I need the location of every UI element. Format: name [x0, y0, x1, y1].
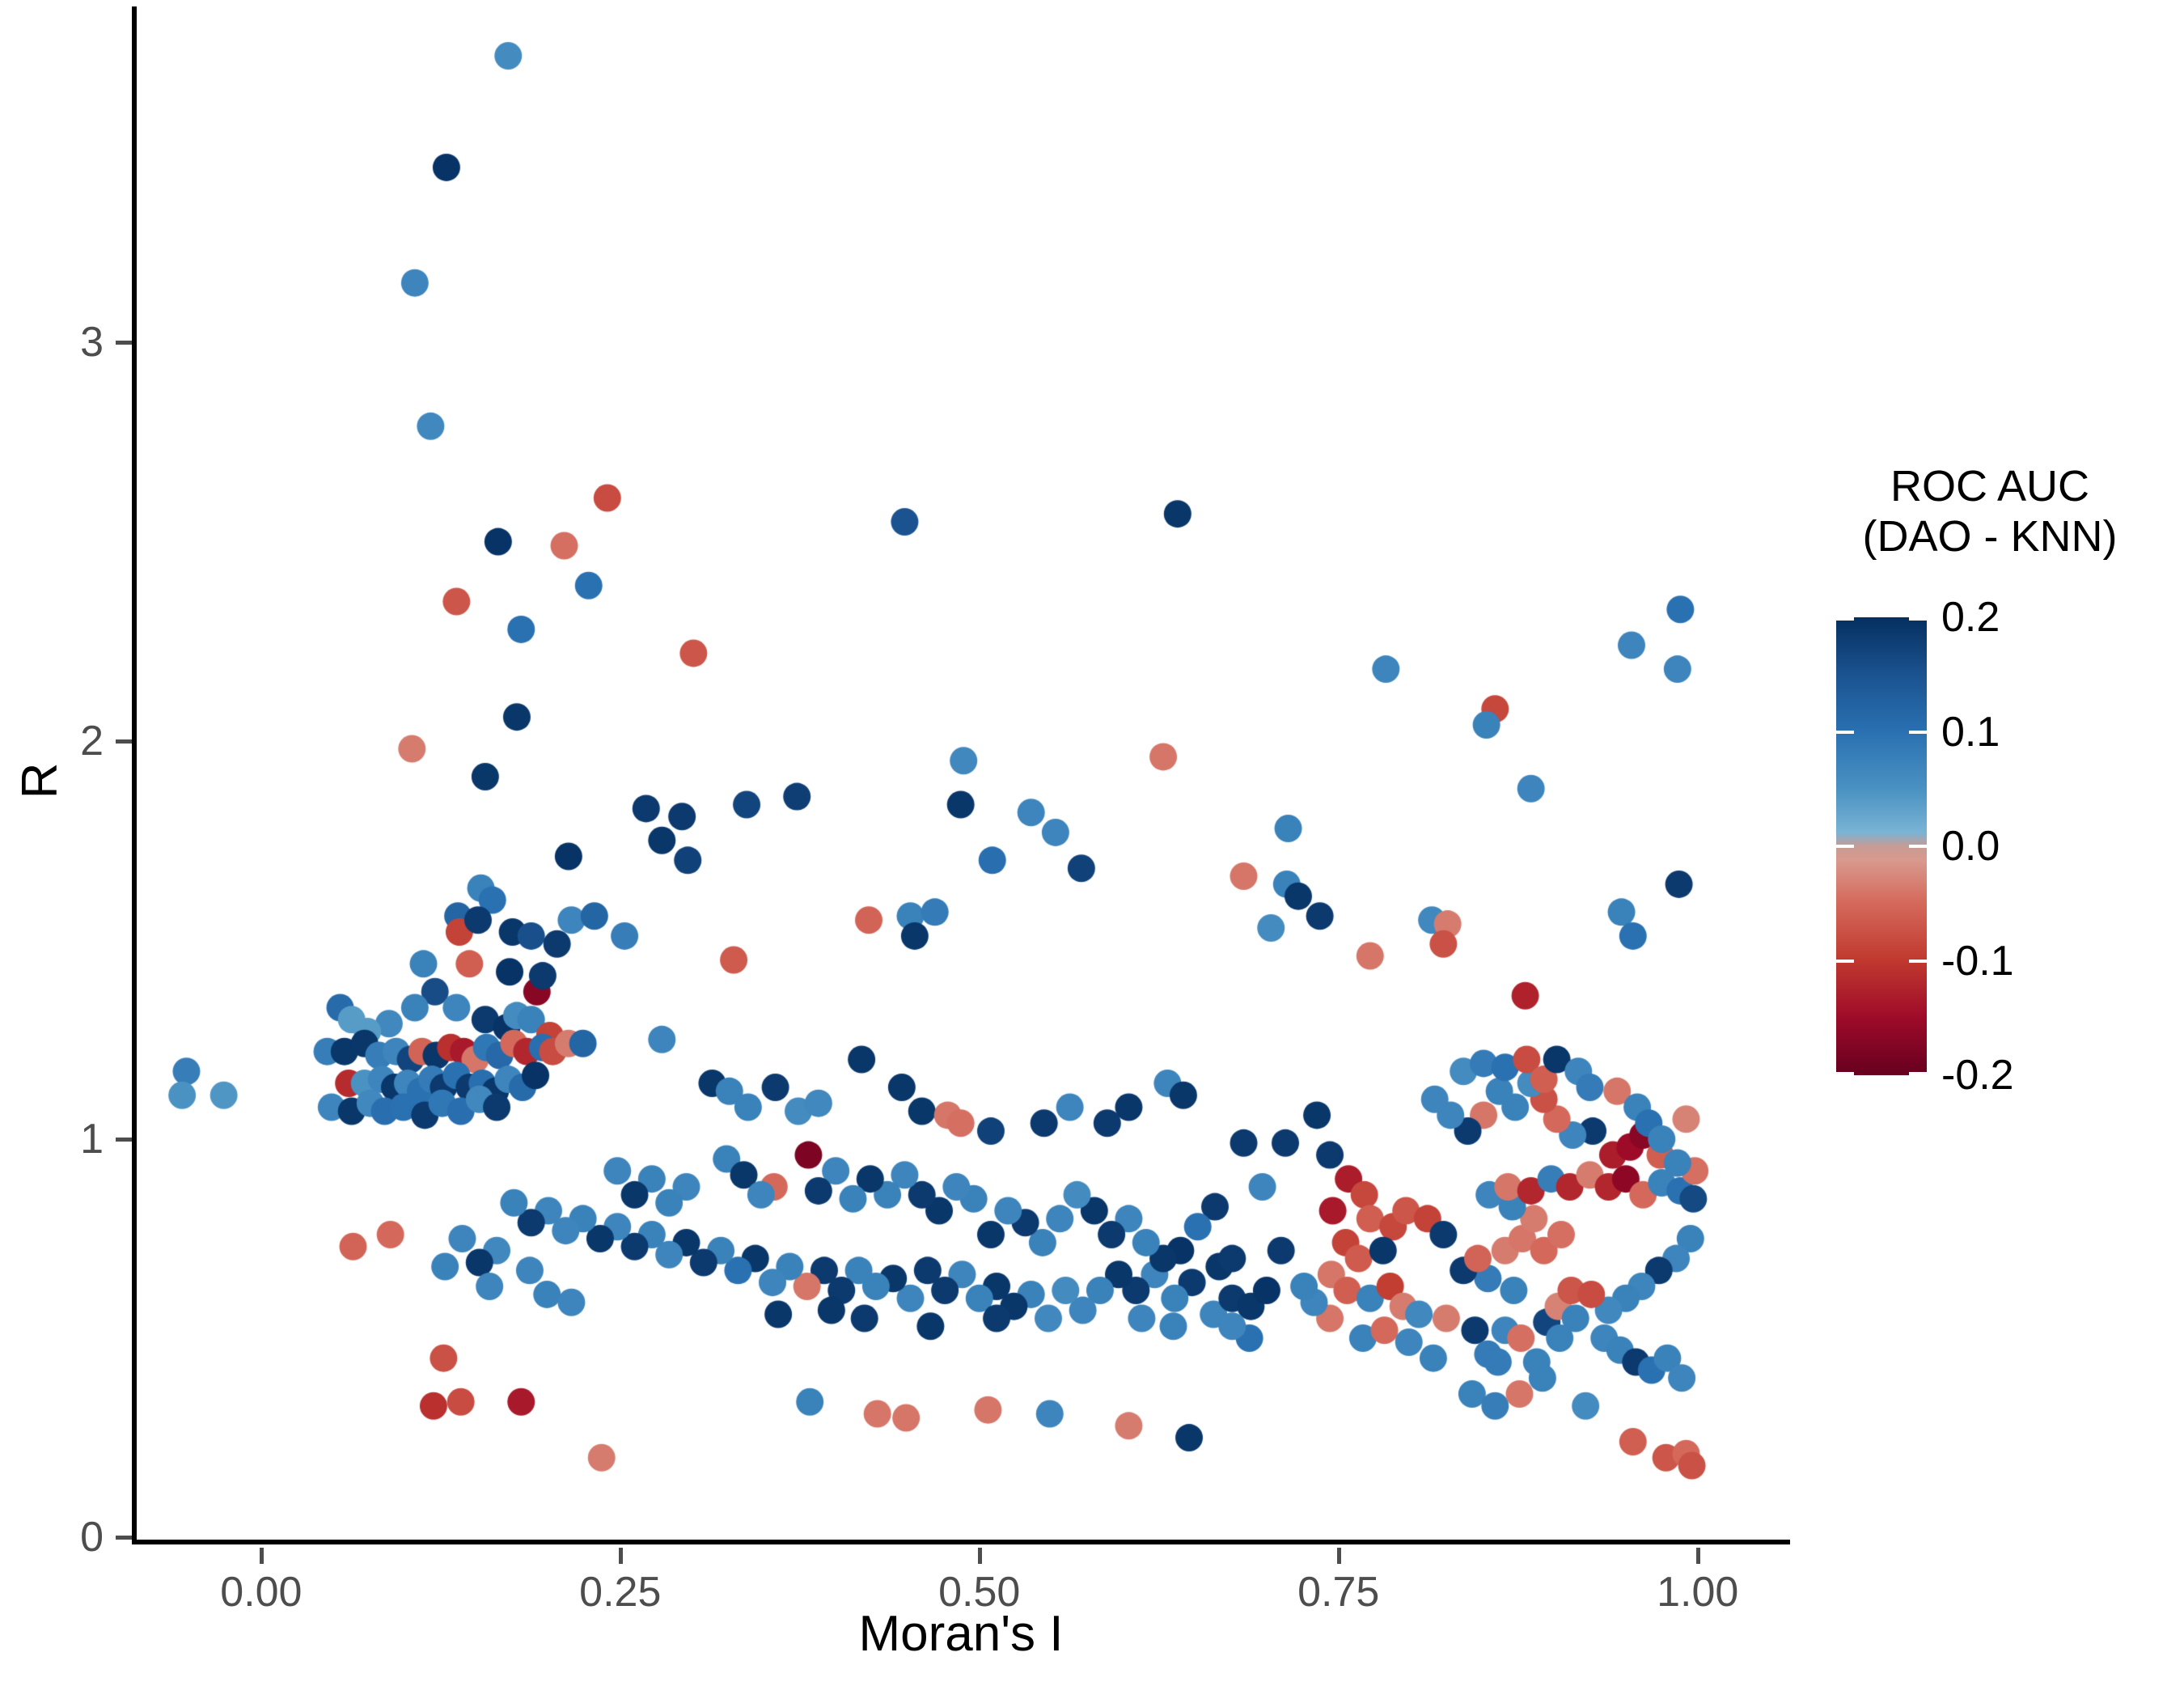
y-axis-title: R [12, 732, 69, 829]
x-tick-mark [260, 1548, 264, 1564]
scatter-plot-figure: 0123 0.000.250.500.751.00 Moran's I R RO… [0, 0, 2184, 1699]
y-tick-mark [116, 1536, 132, 1540]
colorbar-title: ROC AUC (DAO - KNN) [1812, 461, 2168, 561]
y-tick-label: 1 [0, 1118, 104, 1160]
scatter-points-layer [132, 8, 1798, 1545]
y-tick-mark [116, 739, 132, 744]
colorbar-tick-label: 0.1 [1941, 711, 2000, 753]
x-axis-title: Moran's I [132, 1606, 1790, 1663]
colorbar-tick-mark [1909, 960, 1927, 963]
y-tick-label: 3 [0, 321, 104, 363]
colorbar-legend: ROC AUC (DAO - KNN) 0.20.10.0-0.1-0.2 [1812, 461, 2168, 1125]
colorbar-tick-label: 0.2 [1941, 596, 2000, 638]
x-tick-mark [1696, 1548, 1700, 1564]
colorbar-tick-mark [1836, 845, 1854, 848]
colorbar-tick-mark [1909, 1072, 1927, 1075]
colorbar-tick-mark [1909, 731, 1927, 734]
colorbar-tick-mark [1909, 845, 1927, 848]
y-tick-mark [116, 341, 132, 345]
colorbar-tick-mark [1909, 617, 1927, 621]
y-tick-mark [116, 1138, 132, 1142]
colorbar-tick-label: 0.0 [1941, 825, 2000, 867]
y-axis-line [132, 6, 137, 1544]
x-axis-line [132, 1540, 1790, 1544]
colorbar-tick-label: -0.2 [1941, 1054, 2014, 1096]
x-tick-mark [978, 1548, 982, 1564]
colorbar-tick-mark [1836, 1072, 1854, 1075]
x-tick-mark [1337, 1548, 1341, 1564]
plot-panel [132, 8, 1798, 1545]
colorbar-tick-label: -0.1 [1941, 940, 2014, 982]
colorbar-gradient [1836, 617, 1927, 1075]
colorbar-tick-mark [1836, 617, 1854, 621]
y-tick-label: 0 [0, 1516, 104, 1558]
colorbar-tick-mark [1836, 731, 1854, 734]
colorbar-tick-mark [1836, 960, 1854, 963]
x-tick-mark [619, 1548, 623, 1564]
